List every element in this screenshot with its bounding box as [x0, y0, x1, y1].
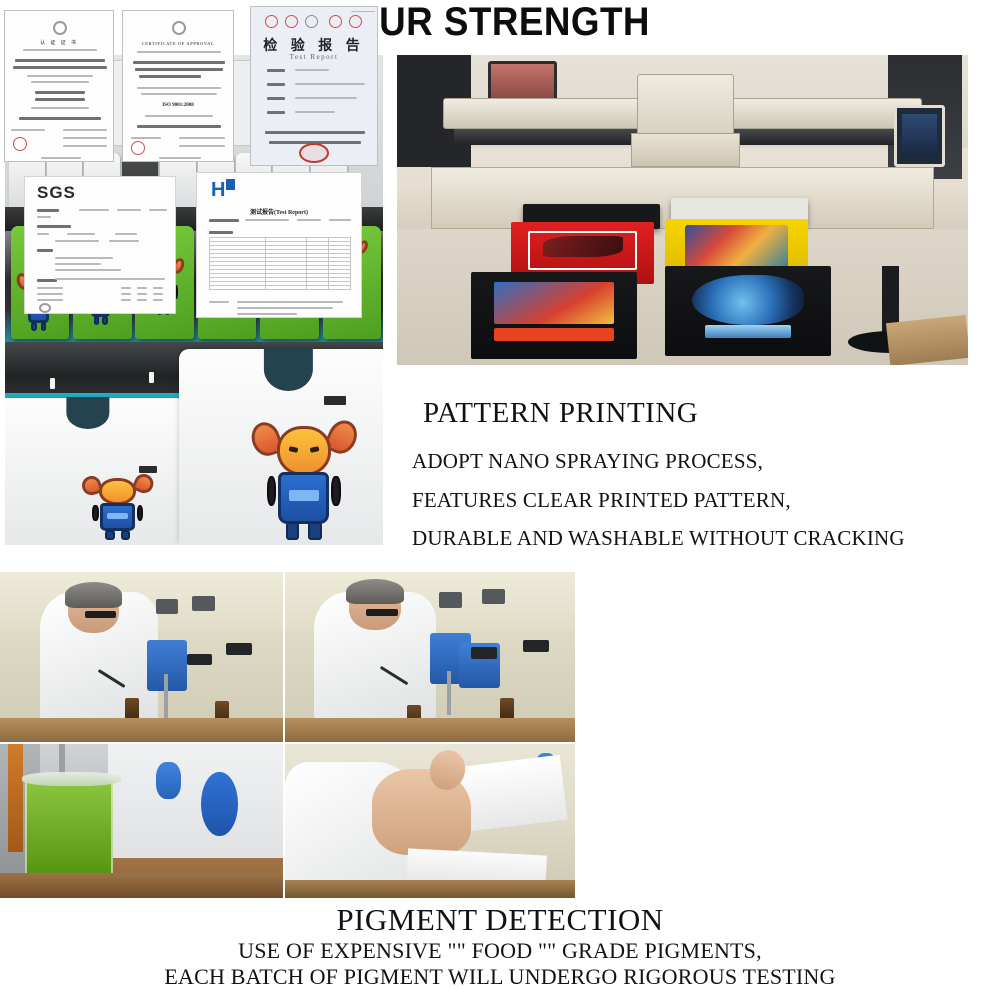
red-stamp-icon: [13, 137, 27, 151]
pattern-printing-line-1: ADOPT NANO SPRAYING PROCESS,: [412, 449, 763, 474]
seal-icon: [172, 21, 186, 35]
test-report-cn: 检 验 报 告 Test Report: [250, 6, 378, 166]
technician-hair: [346, 579, 404, 605]
pattern-printing-line-3: DURABLE AND WASHABLE WITHOUT CRACKING: [412, 526, 905, 551]
h-test-report-title: 测试报告(Test Report): [197, 207, 361, 216]
orange-background-bar: [8, 744, 22, 852]
sgs-report: SGS: [24, 176, 176, 314]
stir-rod: [447, 671, 450, 715]
mixer-head: [192, 596, 215, 611]
lab-bench: [285, 718, 575, 742]
photo-uv-flatbed-printer: [397, 55, 968, 365]
mixer-head: [439, 592, 462, 607]
blue-equipment: [201, 772, 238, 837]
printed-shirt-junior-company: [471, 272, 637, 359]
lab-bench: [0, 718, 283, 742]
lab-background-wall: [108, 744, 283, 858]
h-test-report: H 测试报告(Test Report): [196, 172, 362, 318]
printer-control-panel: [894, 105, 945, 167]
pigment-detection-line-2: EACH BATCH OF PIGMENT WILL UNDERGO RIGOR…: [0, 964, 1000, 990]
pattern-printing-heading: PATTERN PRINTING: [423, 397, 698, 430]
reagent-bottle: [500, 698, 515, 720]
red-stamp-icon: [285, 15, 298, 28]
test-report-cn-subtitle: Test Report: [251, 53, 377, 61]
stir-rod: [164, 674, 167, 718]
lab-bench: [285, 880, 575, 898]
red-stamp-icon: [131, 141, 145, 155]
lab-bench: [0, 873, 283, 898]
technician-hair: [65, 582, 122, 608]
sgs-logo: SGS: [37, 183, 76, 203]
certificate-english: CERTIFICATE OF APPROVAL ISO 9001:2008: [122, 10, 234, 162]
pattern-printing-line-2: FEATURES CLEAR PRINTED PATTERN,: [412, 488, 791, 513]
pigment-detection-line-1: USE OF EXPENSIVE "" FOOD "" GRADE PIGMEN…: [0, 938, 1000, 964]
certificate-chinese-title: 认 证 证 书: [5, 39, 113, 46]
mixer-head: [482, 589, 505, 604]
red-stamp-icon: [299, 143, 329, 163]
seal-icon: [53, 21, 67, 35]
red-stamp-icon: [265, 15, 278, 28]
lab-clamp: [471, 647, 497, 659]
white-shirt-foreground: [5, 398, 186, 545]
table-row: [210, 286, 351, 290]
bull-mascot-icon: [267, 420, 342, 534]
seal-icon: [305, 15, 318, 28]
certificate-standard-label: ISO 9001:2008: [123, 103, 233, 108]
pigment-detection-heading: PIGMENT DETECTION: [0, 902, 1000, 938]
white-shirt-foreground: [179, 349, 383, 545]
lab-clamp: [187, 654, 212, 666]
print-head-carriage: [631, 133, 739, 167]
lab-clamp: [523, 640, 549, 652]
blue-equipment: [156, 762, 181, 799]
reagent-bottle: [125, 698, 139, 720]
certificate-english-title: CERTIFICATE OF APPROVAL: [123, 41, 233, 46]
test-report-cn-title: 检 验 报 告: [251, 35, 377, 55]
eyeglasses-icon: [85, 611, 116, 618]
printed-shirt-sharks: [665, 266, 831, 356]
bull-mascot-icon: [92, 474, 143, 536]
photo-green-pigment-beaker: [0, 744, 283, 898]
photo-lab-technician-right: [285, 572, 575, 742]
red-stamp-icon: [329, 15, 342, 28]
h-logo: H: [211, 179, 235, 202]
mixer-head: [156, 599, 179, 614]
seal-icon: [39, 303, 51, 313]
cardboard-box: [886, 314, 968, 365]
lab-clamp: [226, 643, 251, 655]
red-stamp-icon: [349, 15, 362, 28]
certificate-chinese: 认 证 证 书: [4, 10, 114, 162]
photo-lab-technician-left: [0, 572, 283, 742]
eyeglasses-icon: [366, 609, 398, 616]
photo-hand-holding-paper: [285, 744, 575, 898]
